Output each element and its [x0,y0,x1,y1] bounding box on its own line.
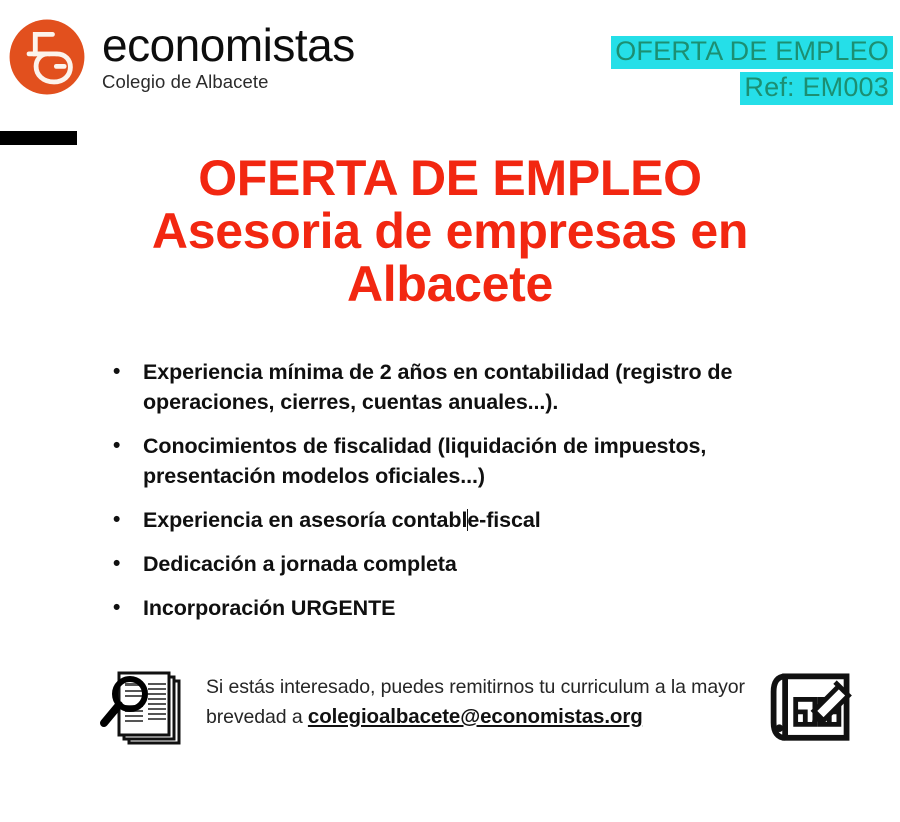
blueprint-pencil-icon [764,661,860,757]
bullet-icon: • [108,357,143,387]
brand-rule-divider [0,131,77,145]
brand-wordmark: economistas Colegio de Albacete [102,22,355,91]
brand-subtitle: Colegio de Albacete [102,73,355,92]
contact-email-link[interactable]: colegioalbacete@economistas.org [308,705,643,728]
bullet-icon: • [108,549,143,579]
requirements-list: • Experiencia mínima de 2 años en contab… [108,357,820,637]
bullet-icon: • [108,505,143,535]
ref-badge-line2: Ref: EM003 [740,72,893,105]
title-line-2: Asesoria de empresas en [60,205,840,258]
title-line-3: Albacete [60,258,840,311]
brand-header: economistas Colegio de Albacete [8,18,355,96]
page-title: OFERTA DE EMPLEO Asesoria de empresas en… [60,152,840,311]
contact-message: Si estás interesado, puedes remitirnos t… [206,673,764,732]
economistas-monogram-icon [8,18,86,96]
list-item: • Incorporación URGENTE [108,593,820,623]
list-item: • Dedicación a jornada completa [108,549,820,579]
list-item-editing[interactable]: • Experiencia en asesoría contable-fisca… [108,505,820,535]
requirement-text: Experiencia mínima de 2 años en contabil… [143,357,820,417]
requirement-text: Conocimientos de fiscalidad (liquidación… [143,431,820,491]
ref-badge-line1-wrap: OFERTA DE EMPLEO [611,36,893,69]
requirement-text-after-caret: e-fiscal [467,508,540,532]
title-line-1: OFERTA DE EMPLEO [60,152,840,205]
requirement-text-before-caret: Experiencia en asesoría contabl [143,508,467,532]
requirement-text: Incorporación URGENTE [143,593,820,623]
ref-badge-line2-wrap: Ref: EM003 [611,72,893,105]
requirement-text-editable[interactable]: Experiencia en asesoría contable-fiscal [143,505,820,535]
bullet-icon: • [108,593,143,623]
reference-badge: OFERTA DE EMPLEO Ref: EM003 [611,36,893,105]
list-item: • Conocimientos de fiscalidad (liquidaci… [108,431,820,491]
documents-magnifier-icon [96,661,196,761]
bullet-icon: • [108,431,143,461]
footer-contact: Si estás interesado, puedes remitirnos t… [96,655,860,761]
ref-badge-line1: OFERTA DE EMPLEO [611,36,893,69]
list-item: • Experiencia mínima de 2 años en contab… [108,357,820,417]
requirement-text: Dedicación a jornada completa [143,549,820,579]
brand-name: economistas [102,22,355,69]
